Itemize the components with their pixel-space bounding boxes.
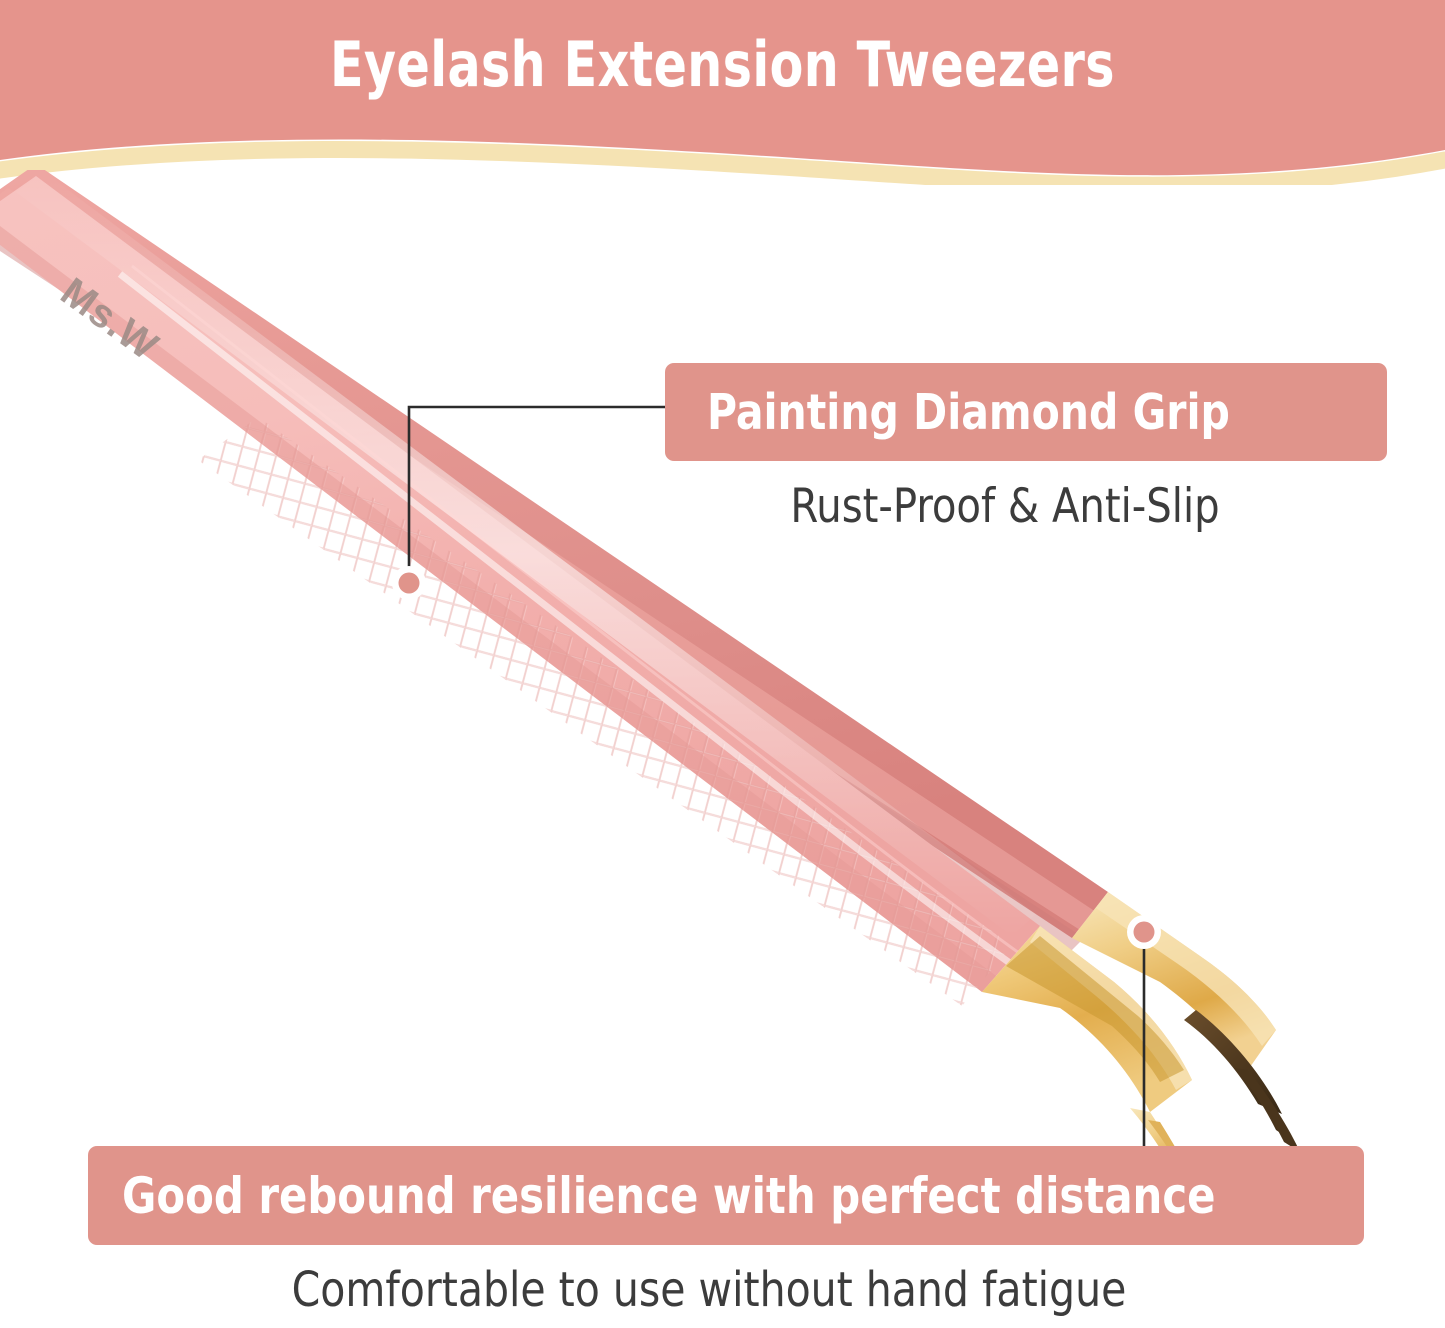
tweezer-arm-front [0, 172, 1100, 1090]
callout-chip-rebound: Good rebound resilience with perfect dis… [88, 1146, 1364, 1245]
callout-label-rebound: Good rebound resilience with perfect dis… [122, 1167, 1216, 1225]
callout-label-grip: Painting Diamond Grip [707, 384, 1230, 441]
header-banner: Eyelash Extension Tweezers [0, 0, 1445, 185]
product-photo: Ms.W [0, 170, 1445, 1180]
infographic-canvas: Eyelash Extension Tweezers [0, 0, 1445, 1328]
callout-chip-grip: Painting Diamond Grip [665, 363, 1387, 461]
callout-subtitle-grip: Rust-Proof & Anti-Slip [665, 479, 1345, 534]
callout-subtitle-rebound: Comfortable to use without hand fatigue [88, 1262, 1330, 1318]
diamond-grip-texture [150, 370, 1100, 1090]
page-title: Eyelash Extension Tweezers [87, 28, 1359, 101]
